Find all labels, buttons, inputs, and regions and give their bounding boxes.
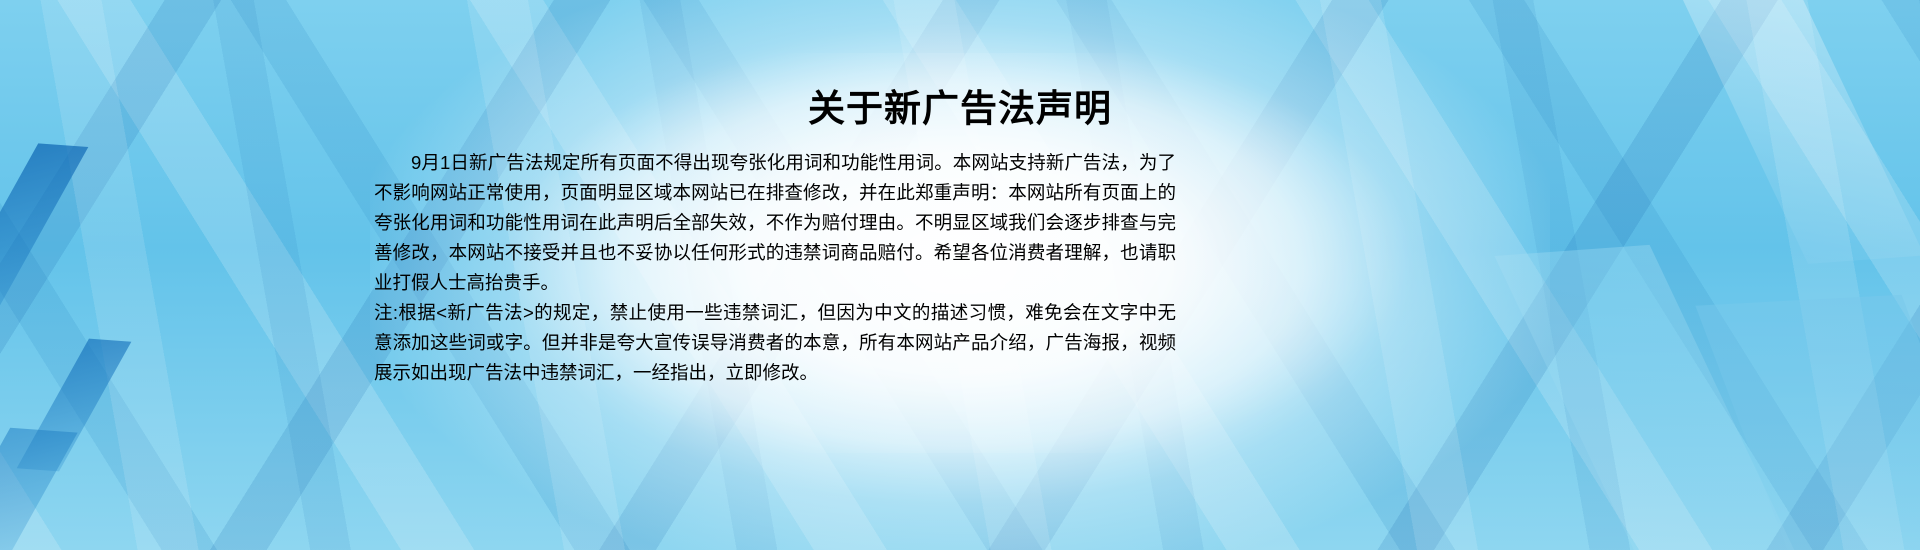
page-title: 关于新广告法声明	[0, 86, 1920, 132]
notice-body: 9月1日新广告法规定所有页面不得出现夸张化用词和功能性用词。本网站支持新广告法，…	[374, 148, 1176, 388]
advertising-law-notice-banner: 关于新广告法声明 9月1日新广告法规定所有页面不得出现夸张化用词和功能性用词。本…	[0, 0, 1920, 550]
notice-content: 关于新广告法声明 9月1日新广告法规定所有页面不得出现夸张化用词和功能性用词。本…	[0, 0, 1920, 550]
notice-paragraph-2: 注:根据<新广告法>的规定，禁止使用一些违禁词汇，但因为中文的描述习惯，难免会在…	[374, 298, 1176, 388]
notice-paragraph-1: 9月1日新广告法规定所有页面不得出现夸张化用词和功能性用词。本网站支持新广告法，…	[374, 148, 1176, 298]
